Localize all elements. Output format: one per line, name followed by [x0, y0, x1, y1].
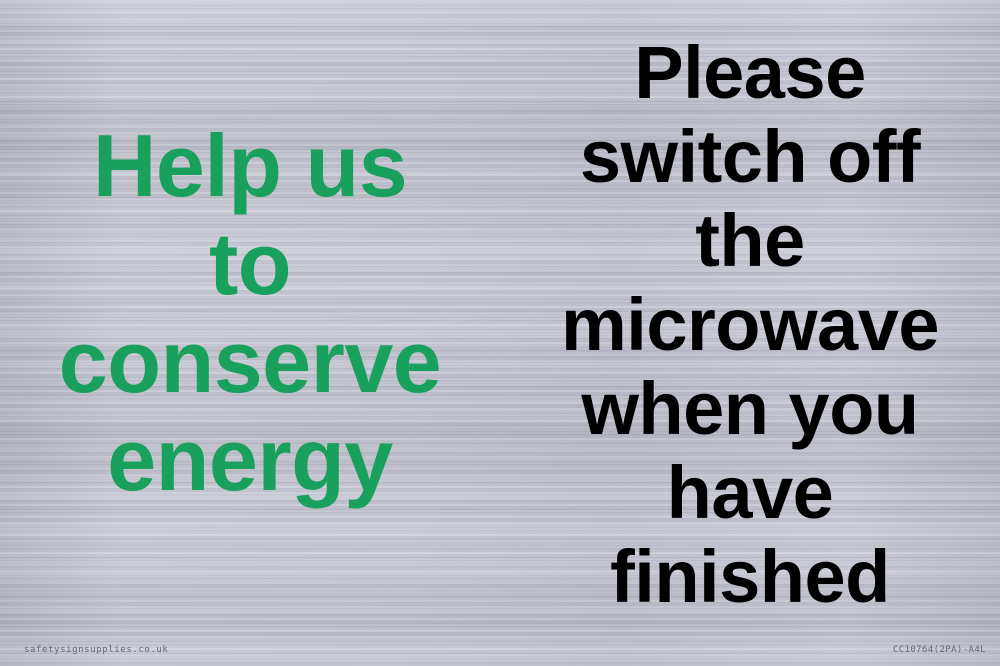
product-code-text: CC10764(2PA)-A4L	[893, 645, 986, 655]
supplier-website-text: safetysignsupplies.co.uk	[24, 645, 168, 655]
black-line-3: the	[695, 204, 805, 278]
sign-message-columns: Help us to conserve energy Please switch…	[0, 0, 1000, 666]
green-line-4: energy	[107, 416, 393, 504]
black-line-1: Please	[634, 36, 866, 110]
black-line-5: when you	[581, 372, 918, 446]
green-line-2: to	[209, 220, 291, 308]
black-line-6: have	[667, 456, 834, 530]
black-line-7: finished	[610, 540, 890, 614]
black-line-4: microwave	[561, 288, 939, 362]
green-message-column: Help us to conserve energy	[0, 0, 500, 666]
green-line-3: conserve	[59, 318, 441, 406]
black-line-2: switch off	[580, 120, 920, 194]
sign-plate: Help us to conserve energy Please switch…	[0, 0, 1000, 666]
green-line-1: Help us	[93, 122, 407, 210]
black-message-column: Please switch off the microwave when you…	[500, 0, 1000, 666]
